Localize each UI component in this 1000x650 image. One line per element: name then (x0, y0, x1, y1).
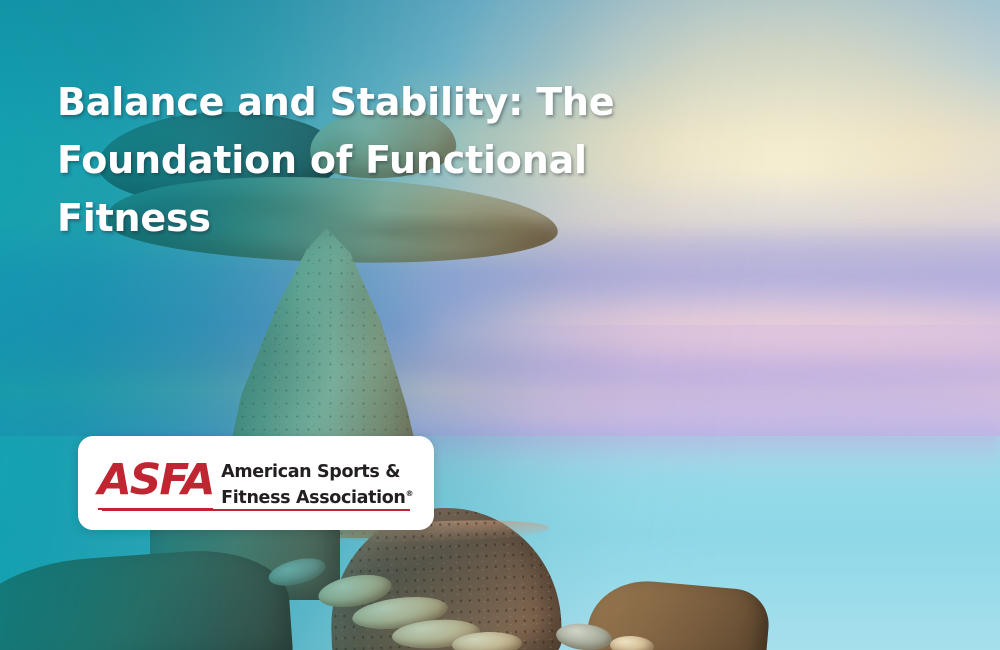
logo-name-line-2: Fitness Association® (221, 483, 413, 509)
asfa-wordmark-text: ASFA (98, 455, 214, 505)
logo-underline (102, 509, 410, 511)
logo-fullname: American Sports & Fitness Association® (221, 459, 413, 509)
logo-name-line-1: American Sports & (221, 462, 413, 483)
asfa-wordmark: ASFA (98, 459, 214, 510)
page-title: Balance and Stability: The Foundation of… (57, 73, 677, 247)
logo-name-line-2-text: Fitness Association (221, 488, 405, 508)
logo-lockup: ASFA American Sports & Fitness Associati… (99, 459, 413, 510)
hero-banner: Balance and Stability: The Foundation of… (0, 0, 1000, 650)
asfa-logo-card[interactable]: ASFA American Sports & Fitness Associati… (78, 436, 434, 530)
registered-trademark-icon: ® (406, 489, 414, 498)
